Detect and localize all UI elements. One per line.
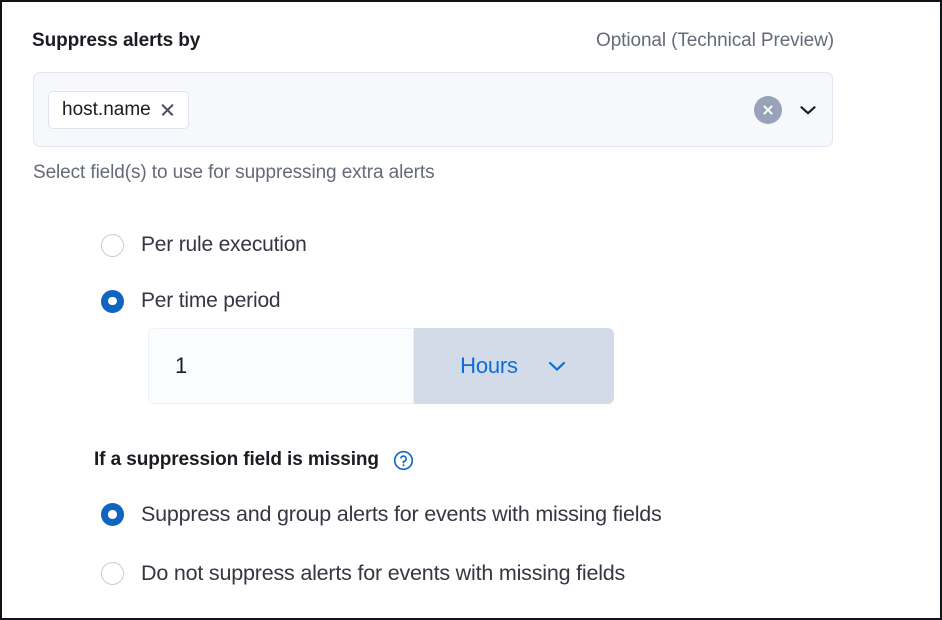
selected-field-pill[interactable]: host.name bbox=[48, 91, 189, 129]
missing-fields-label: If a suppression field is missing bbox=[94, 449, 379, 471]
chevron-down-icon[interactable] bbox=[798, 100, 818, 120]
radio-label: Per rule execution bbox=[141, 233, 307, 257]
question-in-circle-icon[interactable] bbox=[393, 450, 414, 471]
panel-inner: Suppress alerts by Optional (Technical P… bbox=[2, 2, 940, 618]
radio-label: Per time period bbox=[141, 289, 280, 313]
radio-do-not-suppress-missing-fields[interactable]: Do not suppress alerts for events with m… bbox=[101, 561, 625, 586]
radio-label: Suppress and group alerts for events wit… bbox=[141, 502, 662, 527]
duration-unit-select[interactable]: Hours bbox=[414, 328, 614, 404]
combobox-helper-text: Select field(s) to use for suppressing e… bbox=[33, 162, 434, 184]
duration-unit-label: Hours bbox=[460, 353, 518, 379]
field-header-row: Suppress alerts by Optional (Technical P… bbox=[32, 30, 834, 52]
radio-per-rule-execution[interactable]: Per rule execution bbox=[101, 233, 307, 257]
radio-indicator-on-icon[interactable] bbox=[101, 290, 124, 313]
selected-field-label: host.name bbox=[62, 99, 151, 121]
radio-indicator-off-icon[interactable] bbox=[101, 234, 124, 257]
page-title: Suppress alerts by bbox=[32, 30, 200, 52]
radio-per-time-period[interactable]: Per time period bbox=[101, 289, 280, 313]
missing-fields-label-row: If a suppression field is missing bbox=[94, 449, 414, 471]
suppress-alerts-panel: Suppress alerts by Optional (Technical P… bbox=[0, 0, 942, 620]
radio-label: Do not suppress alerts for events with m… bbox=[141, 561, 625, 586]
duration-value-input[interactable]: 1 bbox=[148, 328, 414, 404]
radio-indicator-on-icon[interactable] bbox=[101, 503, 124, 526]
suppress-alerts-by-combobox[interactable]: host.name bbox=[33, 72, 833, 147]
optional-note: Optional (Technical Preview) bbox=[596, 30, 834, 52]
chevron-down-icon[interactable] bbox=[546, 355, 568, 377]
clear-all-icon[interactable] bbox=[754, 96, 782, 124]
radio-suppress-missing-fields[interactable]: Suppress and group alerts for events wit… bbox=[101, 502, 662, 527]
combobox-actions bbox=[754, 96, 818, 124]
suppression-duration-control: 1 Hours bbox=[148, 328, 614, 404]
radio-indicator-off-icon[interactable] bbox=[101, 562, 124, 585]
remove-field-icon[interactable] bbox=[160, 102, 175, 117]
